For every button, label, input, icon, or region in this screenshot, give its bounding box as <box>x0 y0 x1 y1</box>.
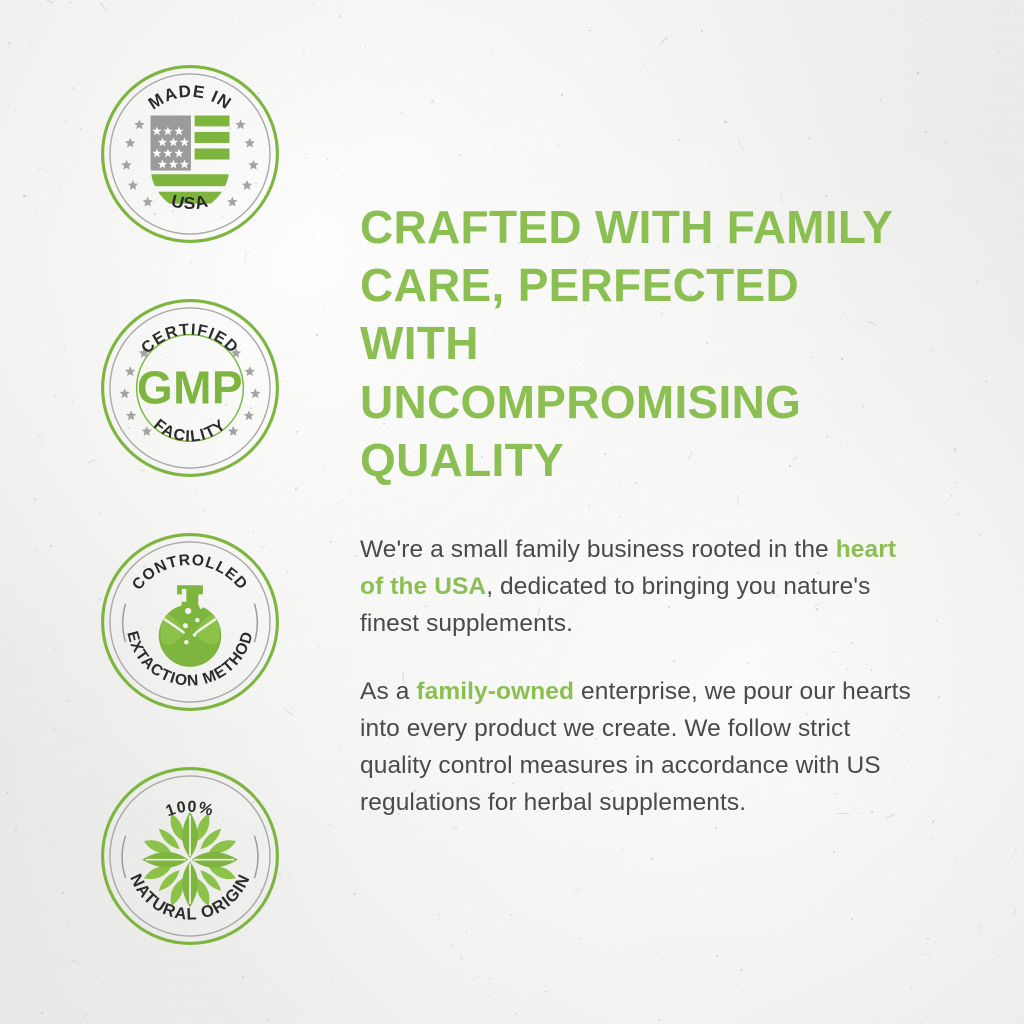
flask-leaf-icon <box>152 585 227 667</box>
headline-line-4: QUALITY <box>360 434 564 486</box>
paragraph-1-text-a: We're a small family business rooted in … <box>360 536 836 563</box>
badge-made-in-usa: MADE IN USA <box>98 62 282 246</box>
badge-top-label: MADE IN <box>145 82 235 114</box>
headline-line-1: CRAFTED WITH FAMILY <box>360 201 893 253</box>
body-paragraph-2: As a family-owned enterprise, we pour ou… <box>360 673 920 822</box>
headline-line-2: CARE, PERFECTED WITH <box>360 259 799 369</box>
highlight-family-owned: family-owned <box>416 678 574 705</box>
paragraph-2-text-a: As a <box>360 678 416 705</box>
trust-badge-column: MADE IN USA <box>98 62 298 998</box>
badge-bottom-label: USA <box>169 190 210 213</box>
badge-left-arc <box>122 836 125 878</box>
badge-natural-origin: 100% NATURAL ORIGIN <box>98 764 282 948</box>
badge-top-label: CERTIFIED <box>138 320 243 357</box>
copy-column: CRAFTED WITH FAMILY CARE, PERFECTED WITH… <box>360 198 920 822</box>
badge-center-label: GMP <box>137 362 243 414</box>
promo-panel: MADE IN USA <box>0 0 1024 1024</box>
badge-bottom-label: FACILITY <box>150 416 229 446</box>
headline-line-3: UNCOMPROMISING <box>360 376 801 428</box>
badge-controlled-extraction: CONTROLLED EXTACTION METHOD <box>98 530 282 714</box>
body-paragraph-1: We're a small family business rooted in … <box>360 531 920 643</box>
badge-gmp-certified: GMP CERTIFIED FACILITY <box>98 296 282 480</box>
badge-right-arc <box>254 836 257 878</box>
usa-flag-shield-icon <box>150 115 229 203</box>
page-title: CRAFTED WITH FAMILY CARE, PERFECTED WITH… <box>360 198 920 489</box>
